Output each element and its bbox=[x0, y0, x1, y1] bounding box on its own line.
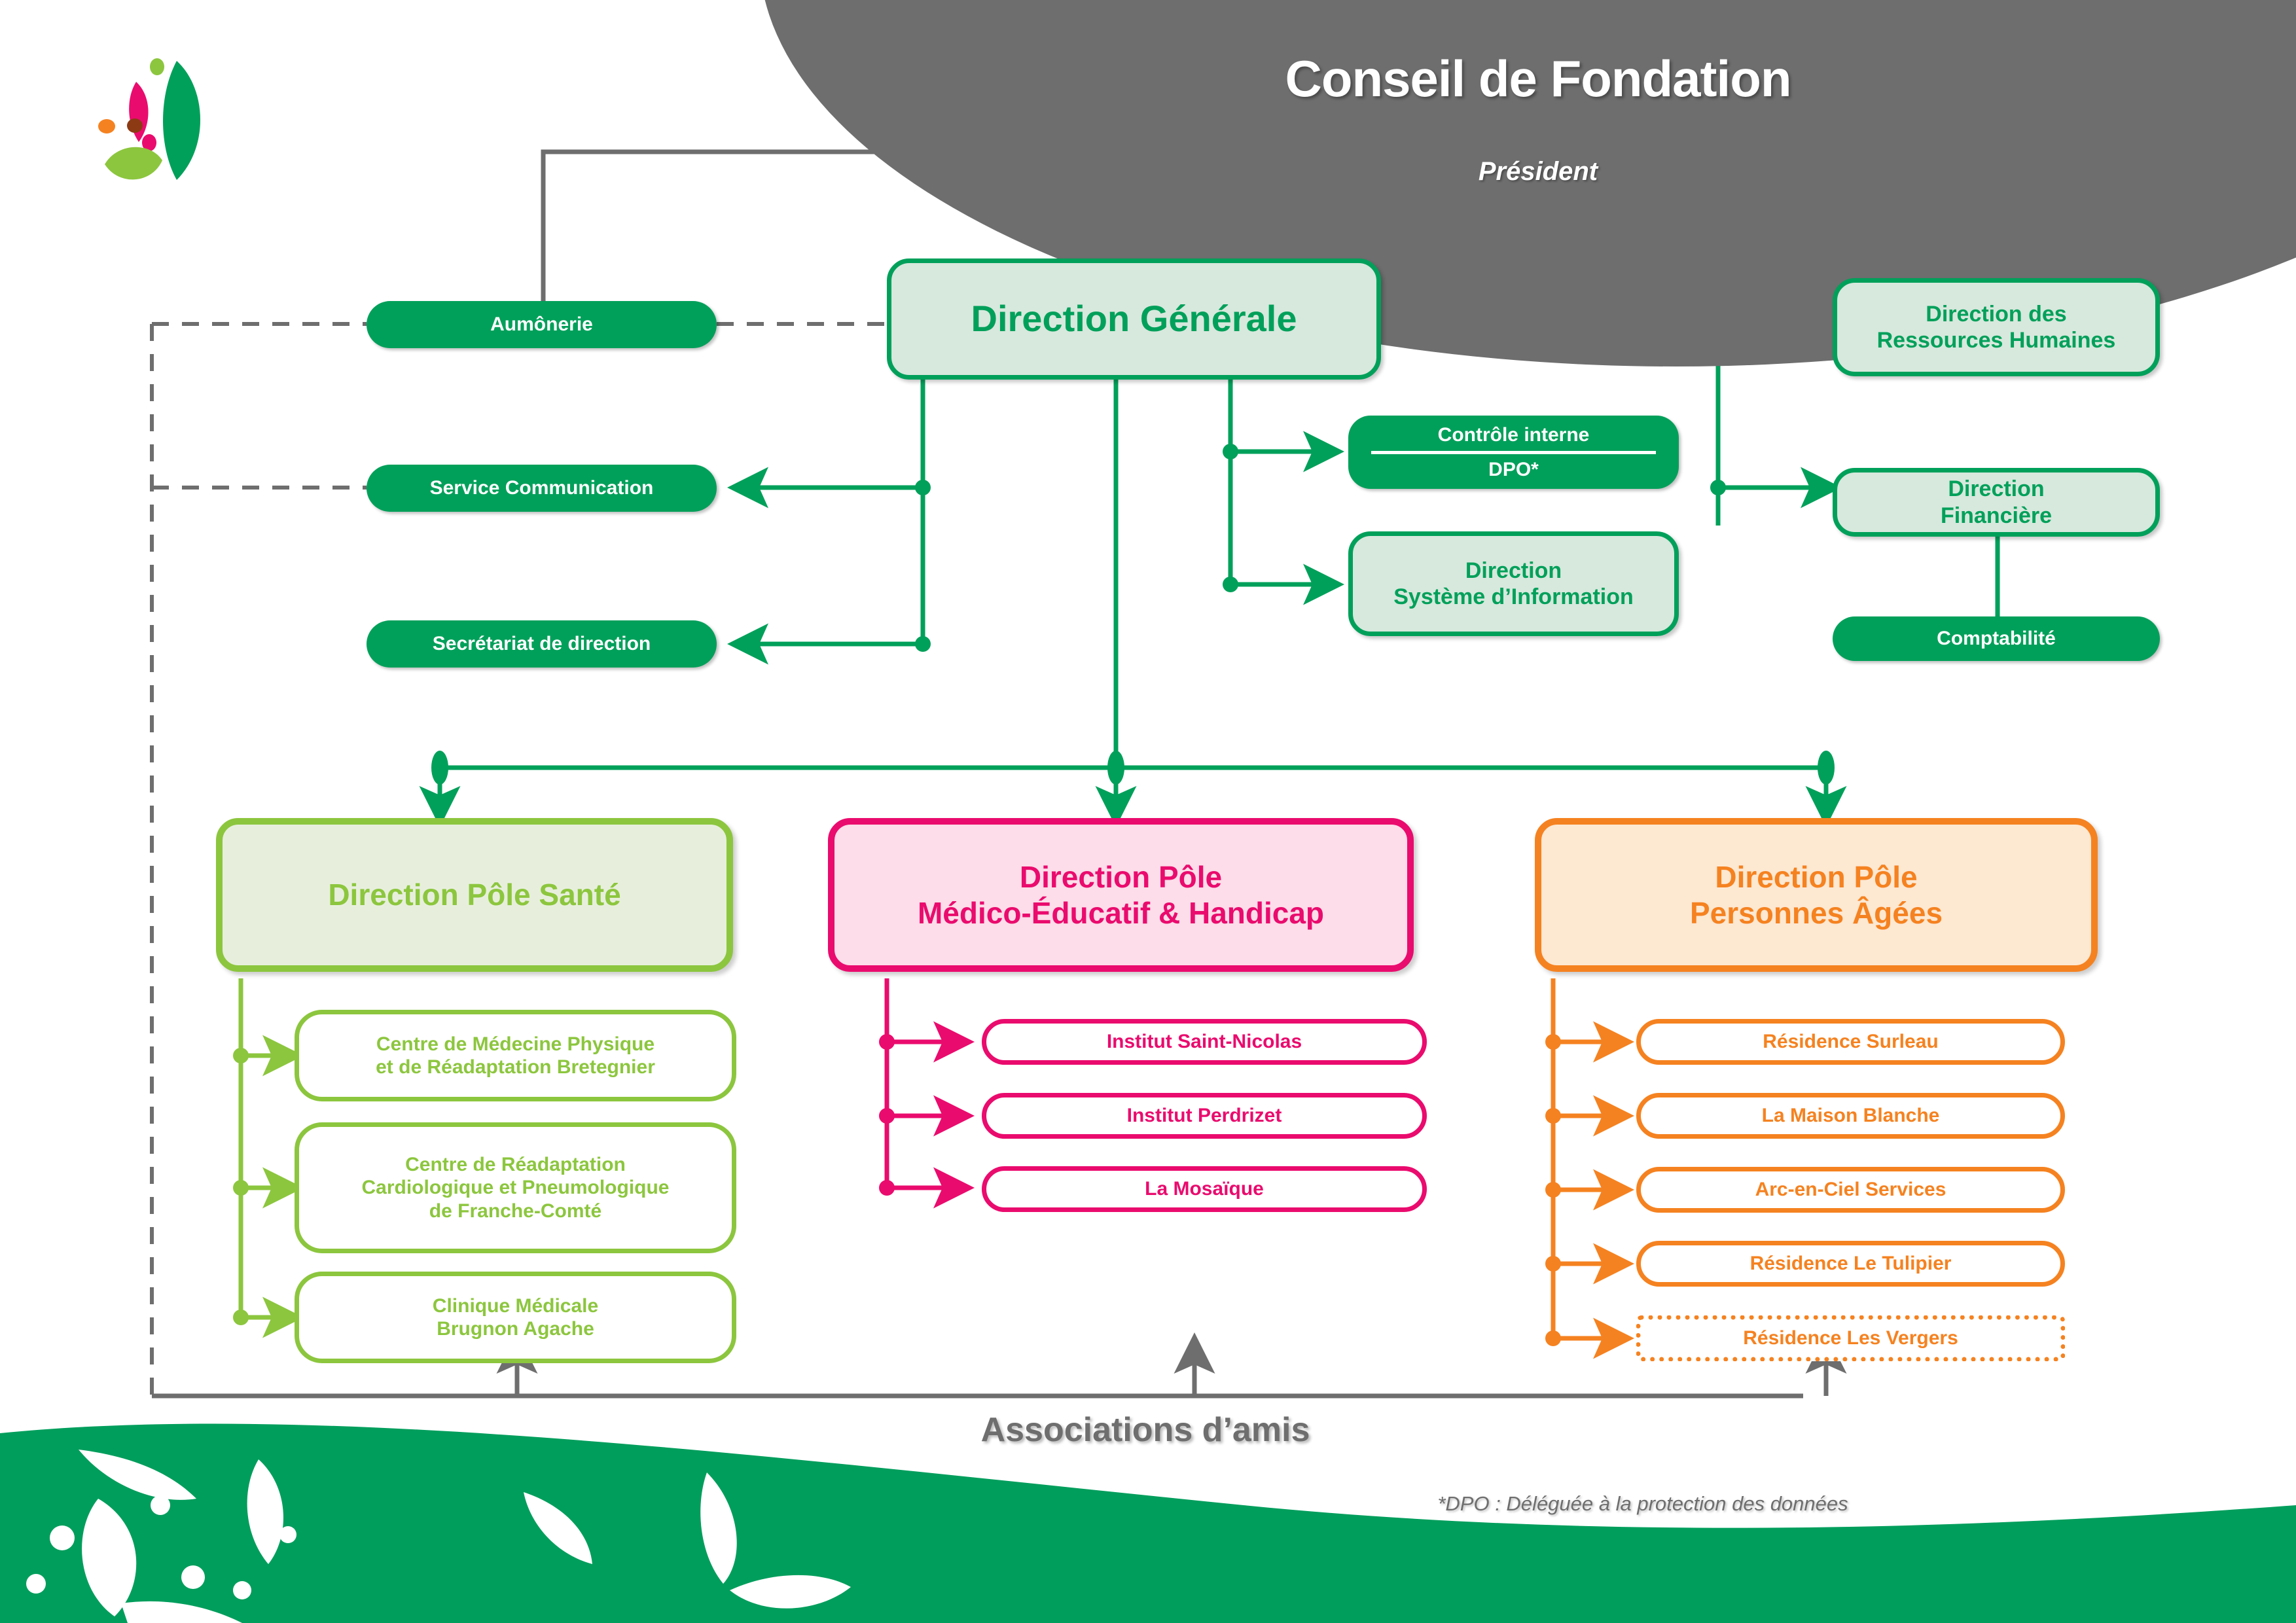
pole-medico-educatif-child-0[interactable]: Institut Saint-Nicolas bbox=[982, 1019, 1427, 1065]
node-service-communication[interactable]: Service Communication bbox=[367, 465, 717, 512]
pole-sante-child-0[interactable]: Centre de Médecine Physique et de Réadap… bbox=[295, 1010, 736, 1101]
split-divider bbox=[1371, 451, 1655, 454]
pole-personnes-agees-child-3[interactable]: Résidence Le Tulipier bbox=[1636, 1241, 2065, 1287]
pole-header-medico-educatif[interactable]: Direction Pôle Médico-Éducatif & Handica… bbox=[828, 818, 1414, 972]
controle-interne-label: Contrôle interne bbox=[1348, 423, 1679, 446]
header-subtitle: Président bbox=[1047, 157, 2029, 187]
child-line-1: Clinique Médicale bbox=[433, 1294, 598, 1317]
pole-me-title-line-1: Direction Pôle bbox=[1020, 859, 1222, 895]
drh-line-2: Ressources Humaines bbox=[1877, 327, 2116, 353]
node-direction-systeme-information[interactable]: Direction Système d’Information bbox=[1348, 531, 1679, 636]
pole-sante-title-line-1: Direction Pôle Santé bbox=[328, 877, 620, 912]
pole-personnes-agees-child-4[interactable]: Résidence Les Vergers bbox=[1636, 1315, 2065, 1361]
child-line-2: et de Réadaptation Bretegnier bbox=[376, 1056, 655, 1079]
pole-personnes-agees-child-2[interactable]: Arc-en-Ciel Services bbox=[1636, 1167, 2065, 1213]
associations-label: Associations d’amis bbox=[818, 1410, 1473, 1450]
child-line-3: de Franche-Comté bbox=[429, 1200, 601, 1222]
node-controle-interne-dpo[interactable]: Contrôle interne DPO* bbox=[1348, 416, 1679, 489]
drh-line-1: Direction des bbox=[1926, 301, 2066, 327]
pole-sante-child-2[interactable]: Clinique Médicale Brugnon Agache bbox=[295, 1272, 736, 1363]
dsi-line-1: Direction bbox=[1465, 558, 1562, 584]
pole-pa-title-line-2: Personnes Âgées bbox=[1690, 895, 1943, 931]
org-chart-canvas: Conseil de Fondation Président Direction… bbox=[0, 0, 2296, 1623]
child-line-1: Centre de Réadaptation bbox=[405, 1153, 626, 1176]
dfin-line-2: Financière bbox=[1941, 503, 2052, 529]
pole-personnes-agees-child-0[interactable]: Résidence Surleau bbox=[1636, 1019, 2065, 1065]
child-line-1: Centre de Médecine Physique bbox=[376, 1033, 655, 1056]
child-line-2: Cardiologique et Pneumologique bbox=[361, 1176, 669, 1199]
dpo-label: DPO* bbox=[1348, 458, 1679, 481]
node-direction-ressources-humaines[interactable]: Direction des Ressources Humaines bbox=[1833, 278, 2160, 376]
pole-header-personnes-agees[interactable]: Direction Pôle Personnes Âgées bbox=[1535, 818, 2098, 972]
pole-personnes-agees-child-1[interactable]: La Maison Blanche bbox=[1636, 1093, 2065, 1139]
pole-me-title-line-2: Médico-Éducatif & Handicap bbox=[918, 895, 1324, 931]
pole-pa-title-line-1: Direction Pôle bbox=[1715, 859, 1917, 895]
child-line-2: Brugnon Agache bbox=[437, 1317, 594, 1340]
dsi-line-2: Système d’Information bbox=[1393, 584, 1634, 610]
node-direction-financiere[interactable]: Direction Financière bbox=[1833, 468, 2160, 537]
pole-medico-educatif-child-2[interactable]: La Mosaïque bbox=[982, 1166, 1427, 1212]
dfin-line-1: Direction bbox=[1948, 476, 2044, 502]
page-title: Conseil de Fondation bbox=[1047, 49, 2029, 109]
node-comptabilite[interactable]: Comptabilité bbox=[1833, 616, 2160, 661]
node-direction-generale[interactable]: Direction Générale bbox=[887, 259, 1381, 380]
pole-header-sante[interactable]: Direction Pôle Santé bbox=[216, 818, 733, 972]
node-aumonerie[interactable]: Aumônerie bbox=[367, 301, 717, 348]
foundation-logo bbox=[79, 49, 255, 200]
node-secretariat-de-direction[interactable]: Secrétariat de direction bbox=[367, 620, 717, 668]
pole-sante-child-1[interactable]: Centre de Réadaptation Cardiologique et … bbox=[295, 1122, 736, 1253]
pole-medico-educatif-child-1[interactable]: Institut Perdrizet bbox=[982, 1093, 1427, 1139]
dpo-footnote: *DPO : Déléguée à la protection des donn… bbox=[1374, 1492, 1911, 1516]
